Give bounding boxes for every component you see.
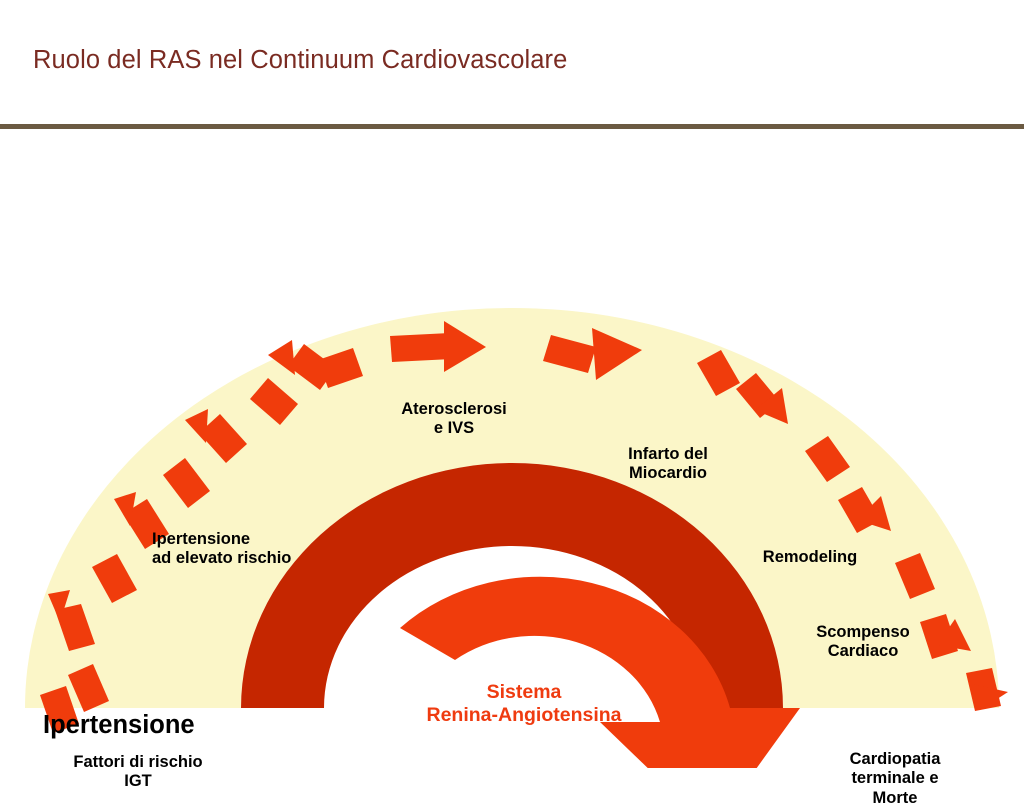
stage-label-hypertension: Ipertensione (43, 711, 253, 740)
center-label-renin-angiotensin-system: Sistema Renina-Angiotensina (384, 681, 664, 728)
stage-label-heart-failure: Scompenso Cardiaco (780, 623, 946, 662)
stage-label-myocardial-infarction: Infarto del Miocardio (604, 445, 732, 484)
cardiovascular-continuum-diagram: Aterosclerosi e IVS Infarto del Miocardi… (0, 130, 1024, 768)
stage-label-end-stage-disease: Cardiopatia terminale e Morte (820, 750, 970, 808)
slide: Ruolo del RAS nel Continuum Cardiovascol… (0, 0, 1024, 768)
page-title: Ruolo del RAS nel Continuum Cardiovascol… (33, 46, 567, 75)
stage-label-high-risk-hypertension: Ipertensione ad elevato rischio (152, 530, 352, 569)
stage-label-atherosclerosis: Aterosclerosi e IVS (374, 400, 534, 439)
stage-label-risk-factors: Fattori di rischio IGT (40, 753, 236, 792)
stage-label-remodeling: Remodeling (742, 548, 878, 567)
title-divider (0, 124, 1024, 129)
